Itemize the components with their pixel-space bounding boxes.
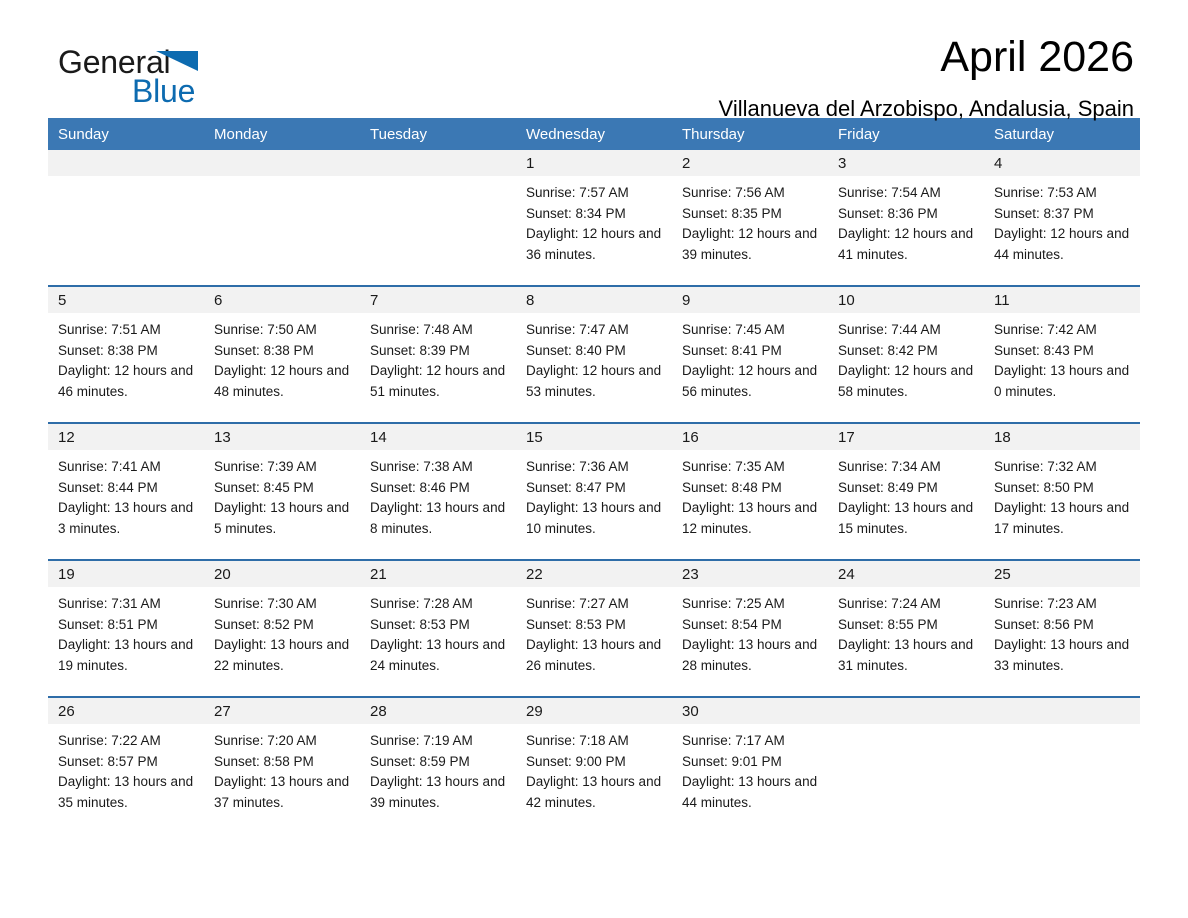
day-number: 24: [828, 561, 984, 587]
day-number: 4: [984, 150, 1140, 176]
sunrise-text: Sunrise: 7:54 AM: [838, 183, 976, 204]
sunset-text: Sunset: 8:54 PM: [682, 615, 820, 636]
day-number: 22: [516, 561, 672, 587]
calendar-day-cell[interactable]: 19Sunrise: 7:31 AMSunset: 8:51 PMDayligh…: [48, 560, 204, 697]
sunset-text: Sunset: 8:36 PM: [838, 204, 976, 225]
sunset-text: Sunset: 9:01 PM: [682, 752, 820, 773]
day-number: [48, 150, 204, 176]
sunset-text: Sunset: 8:34 PM: [526, 204, 664, 225]
daylight-text: Daylight: 13 hours and 35 minutes.: [58, 772, 196, 813]
location-subtitle: Villanueva del Arzobispo, Andalusia, Spa…: [719, 98, 1134, 120]
sunset-text: Sunset: 8:41 PM: [682, 341, 820, 362]
sunset-text: Sunset: 8:59 PM: [370, 752, 508, 773]
sunset-text: Sunset: 8:55 PM: [838, 615, 976, 636]
calendar-day-cell[interactable]: 16Sunrise: 7:35 AMSunset: 8:48 PMDayligh…: [672, 423, 828, 560]
sunset-text: Sunset: 8:42 PM: [838, 341, 976, 362]
day-number: 30: [672, 698, 828, 724]
calendar-day-cell[interactable]: 8Sunrise: 7:47 AMSunset: 8:40 PMDaylight…: [516, 286, 672, 423]
day-number: 7: [360, 287, 516, 313]
day-details: Sunrise: 7:17 AMSunset: 9:01 PMDaylight:…: [672, 724, 828, 813]
day-details: Sunrise: 7:57 AMSunset: 8:34 PMDaylight:…: [516, 176, 672, 265]
daylight-text: Daylight: 13 hours and 28 minutes.: [682, 635, 820, 676]
sunset-text: Sunset: 9:00 PM: [526, 752, 664, 773]
daylight-text: Daylight: 12 hours and 48 minutes.: [214, 361, 352, 402]
calendar-day-cell-empty: [828, 697, 984, 833]
daylight-text: Daylight: 12 hours and 39 minutes.: [682, 224, 820, 265]
day-details: Sunrise: 7:38 AMSunset: 8:46 PMDaylight:…: [360, 450, 516, 539]
calendar-day-cell[interactable]: 14Sunrise: 7:38 AMSunset: 8:46 PMDayligh…: [360, 423, 516, 560]
daylight-text: Daylight: 12 hours and 56 minutes.: [682, 361, 820, 402]
calendar-body: 1Sunrise: 7:57 AMSunset: 8:34 PMDaylight…: [48, 150, 1140, 833]
calendar-day-cell[interactable]: 5Sunrise: 7:51 AMSunset: 8:38 PMDaylight…: [48, 286, 204, 423]
day-details: Sunrise: 7:28 AMSunset: 8:53 PMDaylight:…: [360, 587, 516, 676]
calendar-week-row: 5Sunrise: 7:51 AMSunset: 8:38 PMDaylight…: [48, 286, 1140, 423]
day-number: 1: [516, 150, 672, 176]
weekday-header-tuesday: Tuesday: [360, 118, 516, 150]
calendar-day-cell[interactable]: 9Sunrise: 7:45 AMSunset: 8:41 PMDaylight…: [672, 286, 828, 423]
day-number: 28: [360, 698, 516, 724]
daylight-text: Daylight: 13 hours and 19 minutes.: [58, 635, 196, 676]
day-details: Sunrise: 7:18 AMSunset: 9:00 PMDaylight:…: [516, 724, 672, 813]
sunrise-text: Sunrise: 7:32 AM: [994, 457, 1132, 478]
daylight-text: Daylight: 13 hours and 39 minutes.: [370, 772, 508, 813]
day-details: Sunrise: 7:27 AMSunset: 8:53 PMDaylight:…: [516, 587, 672, 676]
calendar-day-cell[interactable]: 30Sunrise: 7:17 AMSunset: 9:01 PMDayligh…: [672, 697, 828, 833]
sunset-text: Sunset: 8:57 PM: [58, 752, 196, 773]
calendar-day-cell[interactable]: 3Sunrise: 7:54 AMSunset: 8:36 PMDaylight…: [828, 150, 984, 286]
daylight-text: Daylight: 13 hours and 10 minutes.: [526, 498, 664, 539]
generalblue-logo[interactable]: General Blue: [58, 44, 238, 116]
day-number: 9: [672, 287, 828, 313]
daylight-text: Daylight: 13 hours and 26 minutes.: [526, 635, 664, 676]
sunset-text: Sunset: 8:52 PM: [214, 615, 352, 636]
day-number: 29: [516, 698, 672, 724]
calendar-day-cell[interactable]: 28Sunrise: 7:19 AMSunset: 8:59 PMDayligh…: [360, 697, 516, 833]
calendar-day-cell[interactable]: 1Sunrise: 7:57 AMSunset: 8:34 PMDaylight…: [516, 150, 672, 286]
sunset-text: Sunset: 8:40 PM: [526, 341, 664, 362]
day-number: 26: [48, 698, 204, 724]
day-details: Sunrise: 7:50 AMSunset: 8:38 PMDaylight:…: [204, 313, 360, 402]
sunset-text: Sunset: 8:49 PM: [838, 478, 976, 499]
calendar-day-cell[interactable]: 4Sunrise: 7:53 AMSunset: 8:37 PMDaylight…: [984, 150, 1140, 286]
sunset-text: Sunset: 8:44 PM: [58, 478, 196, 499]
daylight-text: Daylight: 12 hours and 58 minutes.: [838, 361, 976, 402]
day-details: Sunrise: 7:32 AMSunset: 8:50 PMDaylight:…: [984, 450, 1140, 539]
sunset-text: Sunset: 8:38 PM: [58, 341, 196, 362]
daylight-text: Daylight: 13 hours and 44 minutes.: [682, 772, 820, 813]
day-number: 16: [672, 424, 828, 450]
day-details: Sunrise: 7:25 AMSunset: 8:54 PMDaylight:…: [672, 587, 828, 676]
daylight-text: Daylight: 13 hours and 42 minutes.: [526, 772, 664, 813]
day-number: 25: [984, 561, 1140, 587]
daylight-text: Daylight: 13 hours and 5 minutes.: [214, 498, 352, 539]
calendar-day-cell[interactable]: 25Sunrise: 7:23 AMSunset: 8:56 PMDayligh…: [984, 560, 1140, 697]
day-details: Sunrise: 7:24 AMSunset: 8:55 PMDaylight:…: [828, 587, 984, 676]
title-block: April 2026 Villanueva del Arzobispo, And…: [719, 36, 1134, 120]
weekday-header-monday: Monday: [204, 118, 360, 150]
calendar-day-cell[interactable]: 27Sunrise: 7:20 AMSunset: 8:58 PMDayligh…: [204, 697, 360, 833]
sunset-text: Sunset: 8:39 PM: [370, 341, 508, 362]
sunset-text: Sunset: 8:45 PM: [214, 478, 352, 499]
daylight-text: Daylight: 12 hours and 36 minutes.: [526, 224, 664, 265]
weekday-header-thursday: Thursday: [672, 118, 828, 150]
daylight-text: Daylight: 13 hours and 17 minutes.: [994, 498, 1132, 539]
sunrise-text: Sunrise: 7:53 AM: [994, 183, 1132, 204]
day-details: Sunrise: 7:56 AMSunset: 8:35 PMDaylight:…: [672, 176, 828, 265]
day-number: 19: [48, 561, 204, 587]
calendar-day-cell-empty: [204, 150, 360, 286]
sunset-text: Sunset: 8:51 PM: [58, 615, 196, 636]
day-number: 18: [984, 424, 1140, 450]
day-details: Sunrise: 7:48 AMSunset: 8:39 PMDaylight:…: [360, 313, 516, 402]
sunset-text: Sunset: 8:37 PM: [994, 204, 1132, 225]
day-details: Sunrise: 7:54 AMSunset: 8:36 PMDaylight:…: [828, 176, 984, 265]
calendar-day-cell[interactable]: 10Sunrise: 7:44 AMSunset: 8:42 PMDayligh…: [828, 286, 984, 423]
sunrise-text: Sunrise: 7:51 AM: [58, 320, 196, 341]
day-details: Sunrise: 7:31 AMSunset: 8:51 PMDaylight:…: [48, 587, 204, 676]
daylight-text: Daylight: 13 hours and 3 minutes.: [58, 498, 196, 539]
calendar-day-cell[interactable]: 6Sunrise: 7:50 AMSunset: 8:38 PMDaylight…: [204, 286, 360, 423]
day-details: Sunrise: 7:22 AMSunset: 8:57 PMDaylight:…: [48, 724, 204, 813]
calendar-day-cell[interactable]: 17Sunrise: 7:34 AMSunset: 8:49 PMDayligh…: [828, 423, 984, 560]
sunrise-text: Sunrise: 7:24 AM: [838, 594, 976, 615]
day-number: 8: [516, 287, 672, 313]
sunrise-text: Sunrise: 7:28 AM: [370, 594, 508, 615]
calendar-day-cell[interactable]: 13Sunrise: 7:39 AMSunset: 8:45 PMDayligh…: [204, 423, 360, 560]
sunrise-text: Sunrise: 7:31 AM: [58, 594, 196, 615]
calendar-day-cell-empty: [984, 697, 1140, 833]
sunset-text: Sunset: 8:48 PM: [682, 478, 820, 499]
day-details: Sunrise: 7:34 AMSunset: 8:49 PMDaylight:…: [828, 450, 984, 539]
calendar-day-cell[interactable]: 18Sunrise: 7:32 AMSunset: 8:50 PMDayligh…: [984, 423, 1140, 560]
daylight-text: Daylight: 13 hours and 24 minutes.: [370, 635, 508, 676]
calendar-day-cell[interactable]: 24Sunrise: 7:24 AMSunset: 8:55 PMDayligh…: [828, 560, 984, 697]
sunrise-text: Sunrise: 7:22 AM: [58, 731, 196, 752]
day-number: 27: [204, 698, 360, 724]
sunrise-text: Sunrise: 7:38 AM: [370, 457, 508, 478]
sunrise-text: Sunrise: 7:47 AM: [526, 320, 664, 341]
sunrise-text: Sunrise: 7:39 AM: [214, 457, 352, 478]
sunrise-text: Sunrise: 7:20 AM: [214, 731, 352, 752]
sunset-text: Sunset: 8:38 PM: [214, 341, 352, 362]
day-details: Sunrise: 7:51 AMSunset: 8:38 PMDaylight:…: [48, 313, 204, 402]
weekday-header-saturday: Saturday: [984, 118, 1140, 150]
calendar-week-row: 12Sunrise: 7:41 AMSunset: 8:44 PMDayligh…: [48, 423, 1140, 560]
sunrise-text: Sunrise: 7:19 AM: [370, 731, 508, 752]
sunrise-text: Sunrise: 7:18 AM: [526, 731, 664, 752]
day-number: 3: [828, 150, 984, 176]
weekday-header-friday: Friday: [828, 118, 984, 150]
sunset-text: Sunset: 8:50 PM: [994, 478, 1132, 499]
sunrise-text: Sunrise: 7:17 AM: [682, 731, 820, 752]
daylight-text: Daylight: 12 hours and 46 minutes.: [58, 361, 196, 402]
calendar-day-cell[interactable]: 23Sunrise: 7:25 AMSunset: 8:54 PMDayligh…: [672, 560, 828, 697]
daylight-text: Daylight: 13 hours and 8 minutes.: [370, 498, 508, 539]
page-title: April 2026: [719, 36, 1134, 79]
sunrise-text: Sunrise: 7:30 AM: [214, 594, 352, 615]
daylight-text: Daylight: 13 hours and 33 minutes.: [994, 635, 1132, 676]
weekday-header-sunday: Sunday: [48, 118, 204, 150]
calendar-day-cell[interactable]: 22Sunrise: 7:27 AMSunset: 8:53 PMDayligh…: [516, 560, 672, 697]
sunset-text: Sunset: 8:35 PM: [682, 204, 820, 225]
sunrise-text: Sunrise: 7:41 AM: [58, 457, 196, 478]
day-details: Sunrise: 7:45 AMSunset: 8:41 PMDaylight:…: [672, 313, 828, 402]
day-number: [828, 698, 984, 724]
calendar-day-cell[interactable]: 20Sunrise: 7:30 AMSunset: 8:52 PMDayligh…: [204, 560, 360, 697]
day-details: Sunrise: 7:42 AMSunset: 8:43 PMDaylight:…: [984, 313, 1140, 402]
weekday-header-wednesday: Wednesday: [516, 118, 672, 150]
day-number: 20: [204, 561, 360, 587]
sunset-text: Sunset: 8:58 PM: [214, 752, 352, 773]
day-number: 21: [360, 561, 516, 587]
day-number: [984, 698, 1140, 724]
page-header: General Blue April 2026 Villanueva del A…: [48, 0, 1140, 118]
day-details: Sunrise: 7:44 AMSunset: 8:42 PMDaylight:…: [828, 313, 984, 402]
day-details: Sunrise: 7:41 AMSunset: 8:44 PMDaylight:…: [48, 450, 204, 539]
daylight-text: Daylight: 13 hours and 15 minutes.: [838, 498, 976, 539]
calendar-week-row: 19Sunrise: 7:31 AMSunset: 8:51 PMDayligh…: [48, 560, 1140, 697]
daylight-text: Daylight: 13 hours and 37 minutes.: [214, 772, 352, 813]
sunrise-text: Sunrise: 7:23 AM: [994, 594, 1132, 615]
day-number: 10: [828, 287, 984, 313]
day-number: 14: [360, 424, 516, 450]
daylight-text: Daylight: 12 hours and 41 minutes.: [838, 224, 976, 265]
sunset-text: Sunset: 8:43 PM: [994, 341, 1132, 362]
day-details: Sunrise: 7:20 AMSunset: 8:58 PMDaylight:…: [204, 724, 360, 813]
daylight-text: Daylight: 12 hours and 51 minutes.: [370, 361, 508, 402]
day-number: 11: [984, 287, 1140, 313]
calendar-day-cell[interactable]: 21Sunrise: 7:28 AMSunset: 8:53 PMDayligh…: [360, 560, 516, 697]
day-details: Sunrise: 7:36 AMSunset: 8:47 PMDaylight:…: [516, 450, 672, 539]
calendar-day-cell[interactable]: 29Sunrise: 7:18 AMSunset: 9:00 PMDayligh…: [516, 697, 672, 833]
daylight-text: Daylight: 13 hours and 0 minutes.: [994, 361, 1132, 402]
day-number: 23: [672, 561, 828, 587]
day-number: 2: [672, 150, 828, 176]
sunset-text: Sunset: 8:47 PM: [526, 478, 664, 499]
sunset-text: Sunset: 8:56 PM: [994, 615, 1132, 636]
sunrise-text: Sunrise: 7:45 AM: [682, 320, 820, 341]
calendar-day-cell[interactable]: 26Sunrise: 7:22 AMSunset: 8:57 PMDayligh…: [48, 697, 204, 833]
day-details: Sunrise: 7:39 AMSunset: 8:45 PMDaylight:…: [204, 450, 360, 539]
day-details: Sunrise: 7:30 AMSunset: 8:52 PMDaylight:…: [204, 587, 360, 676]
daylight-text: Daylight: 13 hours and 31 minutes.: [838, 635, 976, 676]
day-number: [204, 150, 360, 176]
daylight-text: Daylight: 12 hours and 44 minutes.: [994, 224, 1132, 265]
sunrise-text: Sunrise: 7:48 AM: [370, 320, 508, 341]
calendar-day-cell[interactable]: 12Sunrise: 7:41 AMSunset: 8:44 PMDayligh…: [48, 423, 204, 560]
day-number: 5: [48, 287, 204, 313]
calendar-week-row: 1Sunrise: 7:57 AMSunset: 8:34 PMDaylight…: [48, 150, 1140, 286]
weekday-header-row: Sunday Monday Tuesday Wednesday Thursday…: [48, 118, 1140, 150]
sunset-text: Sunset: 8:53 PM: [526, 615, 664, 636]
calendar-week-row: 26Sunrise: 7:22 AMSunset: 8:57 PMDayligh…: [48, 697, 1140, 833]
sunrise-text: Sunrise: 7:27 AM: [526, 594, 664, 615]
day-details: Sunrise: 7:53 AMSunset: 8:37 PMDaylight:…: [984, 176, 1140, 265]
day-number: [360, 150, 516, 176]
daylight-text: Daylight: 12 hours and 53 minutes.: [526, 361, 664, 402]
calendar-day-cell-empty: [360, 150, 516, 286]
sunrise-text: Sunrise: 7:35 AM: [682, 457, 820, 478]
sunrise-text: Sunrise: 7:50 AM: [214, 320, 352, 341]
day-details: Sunrise: 7:35 AMSunset: 8:48 PMDaylight:…: [672, 450, 828, 539]
calendar-day-cell-empty: [48, 150, 204, 286]
sunrise-text: Sunrise: 7:42 AM: [994, 320, 1132, 341]
sunrise-text: Sunrise: 7:25 AM: [682, 594, 820, 615]
daylight-text: Daylight: 13 hours and 12 minutes.: [682, 498, 820, 539]
sunset-text: Sunset: 8:53 PM: [370, 615, 508, 636]
daylight-text: Daylight: 13 hours and 22 minutes.: [214, 635, 352, 676]
sunrise-text: Sunrise: 7:56 AM: [682, 183, 820, 204]
day-details: Sunrise: 7:23 AMSunset: 8:56 PMDaylight:…: [984, 587, 1140, 676]
day-details: Sunrise: 7:47 AMSunset: 8:40 PMDaylight:…: [516, 313, 672, 402]
calendar-day-cell[interactable]: 15Sunrise: 7:36 AMSunset: 8:47 PMDayligh…: [516, 423, 672, 560]
calendar-day-cell[interactable]: 2Sunrise: 7:56 AMSunset: 8:35 PMDaylight…: [672, 150, 828, 286]
day-number: 6: [204, 287, 360, 313]
day-number: 12: [48, 424, 204, 450]
calendar-day-cell[interactable]: 7Sunrise: 7:48 AMSunset: 8:39 PMDaylight…: [360, 286, 516, 423]
day-number: 13: [204, 424, 360, 450]
sunrise-text: Sunrise: 7:36 AM: [526, 457, 664, 478]
sunrise-text: Sunrise: 7:44 AM: [838, 320, 976, 341]
calendar-page: General Blue April 2026 Villanueva del A…: [0, 0, 1188, 918]
calendar-day-cell[interactable]: 11Sunrise: 7:42 AMSunset: 8:43 PMDayligh…: [984, 286, 1140, 423]
sunset-text: Sunset: 8:46 PM: [370, 478, 508, 499]
logo-flag-icon: [156, 51, 198, 71]
day-details: Sunrise: 7:19 AMSunset: 8:59 PMDaylight:…: [360, 724, 516, 813]
sunrise-text: Sunrise: 7:57 AM: [526, 183, 664, 204]
calendar-table: Sunday Monday Tuesday Wednesday Thursday…: [48, 118, 1140, 833]
logo-text-blue: Blue: [132, 73, 195, 110]
day-number: 17: [828, 424, 984, 450]
sunrise-text: Sunrise: 7:34 AM: [838, 457, 976, 478]
day-number: 15: [516, 424, 672, 450]
